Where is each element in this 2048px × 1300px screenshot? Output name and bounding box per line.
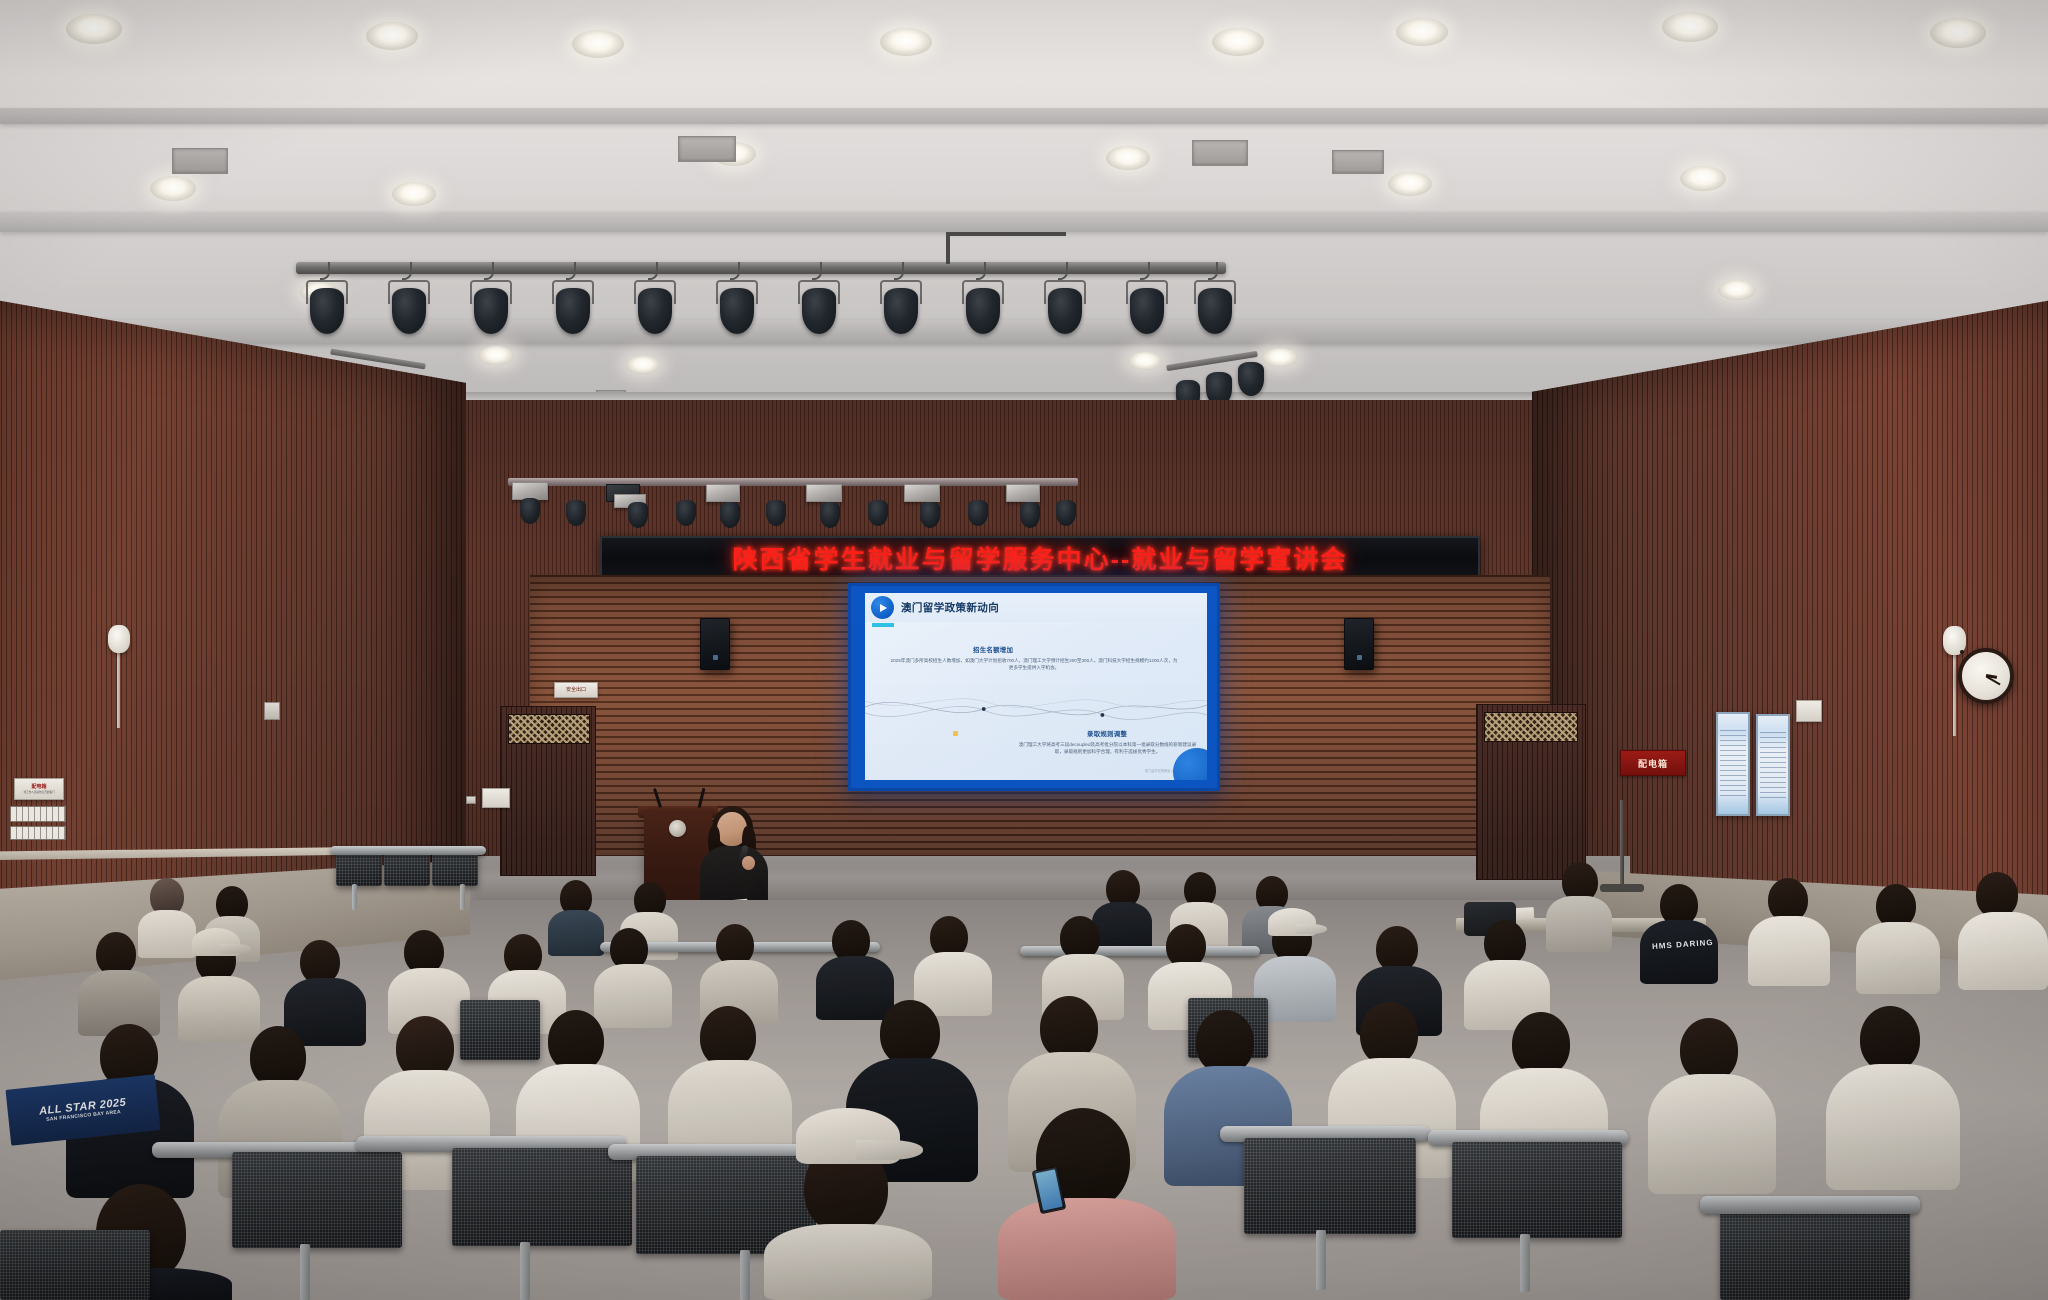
- par-can-light: [720, 502, 740, 528]
- chair[interactable]: [336, 852, 382, 886]
- wall-notice-left: [482, 788, 510, 808]
- ceiling-downlight: [572, 30, 624, 58]
- par-can-light: [1048, 288, 1082, 334]
- electrical-cabinet-sign: 配电箱: [1620, 750, 1686, 776]
- chair-leg: [460, 884, 465, 910]
- par-can-light: [1020, 502, 1040, 528]
- par-can-light: [628, 502, 648, 528]
- chair[interactable]: [1720, 1210, 1910, 1300]
- chair-leg: [1316, 1230, 1326, 1290]
- door-grille-right: [1484, 712, 1578, 742]
- audience-head: [880, 1000, 940, 1066]
- par-can-light: [556, 288, 590, 334]
- slide-section-2-body: 澳门理工大学将高考三段decoupled及高考批分院以本科第一批录取分数线的崭新…: [1015, 741, 1200, 755]
- chair-leg: [520, 1242, 530, 1300]
- audience-body: [816, 956, 894, 1020]
- wall-notice-right: [1796, 700, 1822, 722]
- ceiling-downlight: [1662, 12, 1718, 42]
- chair[interactable]: [432, 852, 478, 886]
- audience-head: [548, 1010, 604, 1072]
- projection-screen: 澳门留学政策新动向 招生名额增加 2025年澳门多所高校招生人数增加，如澳门大学…: [848, 583, 1220, 791]
- audience-cap: [796, 1108, 900, 1164]
- audience-body: [1648, 1074, 1776, 1194]
- pendant-rod-left: [117, 640, 120, 728]
- chair-rail: [1700, 1196, 1920, 1214]
- slide-wave-graphic: [865, 685, 1207, 731]
- audience-body: [1640, 920, 1718, 984]
- wall-clock: [1958, 648, 2014, 704]
- door-grille-left: [508, 714, 590, 744]
- fresnel-light: [1006, 484, 1040, 502]
- audience-body: [1546, 896, 1612, 952]
- electrical-cabinet-sign-text: 配电箱: [1638, 757, 1668, 770]
- ceiling-band: [0, 212, 2048, 232]
- par-can-light: [1130, 288, 1164, 334]
- wall-outlet[interactable]: [264, 702, 280, 720]
- chair[interactable]: [1244, 1138, 1416, 1234]
- ceiling-downlight: [880, 28, 932, 56]
- par-can-light: [1056, 500, 1076, 526]
- chair[interactable]: [1452, 1142, 1622, 1238]
- wall-pendant-left: [108, 625, 130, 653]
- ceiling-cable: [946, 236, 950, 264]
- audience-body: [1856, 922, 1940, 994]
- poster-board-left: [1716, 712, 1750, 816]
- truss-fixture-group-upper: [296, 258, 1234, 328]
- par-can-light: [676, 500, 696, 526]
- ceiling-band: [0, 108, 2048, 124]
- fresnel-light: [904, 484, 940, 502]
- breaker-row: [10, 806, 66, 822]
- ceiling-downlight: [1212, 28, 1264, 56]
- ceiling-downlight: [1680, 166, 1726, 191]
- exit-sign-text: 安全出口: [566, 687, 586, 694]
- electrical-panel-label: 配电箱 非工作人员请勿打开此箱门: [14, 778, 64, 800]
- audience-head: [1512, 1012, 1570, 1076]
- clock-center-pin: [1960, 650, 1964, 654]
- audience-body: [178, 976, 260, 1042]
- chair[interactable]: [452, 1148, 632, 1246]
- slide-accent-bar: [872, 623, 894, 627]
- exit-sign-left: 安全出口: [554, 682, 598, 698]
- ceiling-vent: [1192, 140, 1248, 166]
- ceiling-downlight: [1262, 348, 1298, 367]
- chair-leg: [1520, 1234, 1530, 1292]
- wall-speaker-right: [1344, 618, 1374, 670]
- ceiling-downlight: [1396, 18, 1448, 46]
- par-can-light: [720, 288, 754, 334]
- chair-leg: [352, 884, 357, 910]
- ceiling-downlight: [626, 356, 660, 374]
- slide-section-1-body: 2025年澳门多所高校招生人数增加，如澳门大学计划招收700人，澳门理工大学预计…: [889, 657, 1179, 671]
- audience-body: [764, 1224, 932, 1300]
- audience-head: [700, 1006, 756, 1068]
- par-can-light: [520, 498, 540, 524]
- ceiling-vent: [1332, 150, 1384, 174]
- ceiling-downlight: [1930, 18, 1986, 48]
- electrical-panel-sub: 非工作人员请勿打开此箱门: [23, 791, 54, 795]
- chair[interactable]: [460, 1000, 540, 1060]
- chair-rail: [330, 846, 486, 855]
- led-banner-text: 陕西省学生就业与留学服务中心--就业与留学宣讲会: [733, 540, 1348, 576]
- play-icon: [871, 596, 894, 619]
- par-can-light: [966, 288, 1000, 334]
- ceiling-cable: [946, 232, 1066, 236]
- audience-head: [1680, 1018, 1738, 1082]
- poster-board-right: [1756, 714, 1790, 816]
- ceiling-downlight: [392, 182, 436, 206]
- ceiling-vent: [678, 136, 736, 162]
- par-can-light: [638, 288, 672, 334]
- par-can-light: [1198, 288, 1232, 334]
- par-can-light: [474, 288, 508, 334]
- audience-body: [1748, 916, 1830, 986]
- audience-body: [998, 1198, 1176, 1300]
- audience-body: [594, 964, 672, 1028]
- ceiling-downlight: [1388, 172, 1432, 196]
- slide-section-1-heading: 招生名额增加: [973, 645, 1013, 654]
- par-can-light: [310, 288, 344, 334]
- ceiling-downlight: [478, 346, 514, 365]
- podium-emblem: [669, 820, 686, 837]
- truss-fixture-group-lower: [508, 470, 1080, 520]
- wall-switch[interactable]: [466, 796, 476, 804]
- par-can-light: [566, 500, 586, 526]
- ceiling-downlight: [66, 14, 122, 44]
- audience-body: [1092, 902, 1152, 952]
- slide-title: 澳门留学政策新动向: [901, 600, 999, 615]
- ceiling-downlight: [1106, 146, 1150, 170]
- chair[interactable]: [0, 1230, 150, 1300]
- ceiling-downlight: [150, 176, 196, 201]
- ceiling-downlight: [1128, 352, 1162, 370]
- breaker-row: [10, 826, 66, 840]
- audience-cap: [192, 928, 240, 956]
- fresnel-light: [706, 484, 740, 502]
- par-can-light: [766, 500, 786, 526]
- presenter-hand: [742, 856, 755, 870]
- chair[interactable]: [384, 852, 430, 886]
- audience-head: [1196, 1010, 1254, 1074]
- audience-body: [548, 910, 604, 956]
- par-can-light: [1238, 362, 1264, 396]
- par-can-light: [868, 500, 888, 526]
- audience-body: [1826, 1064, 1960, 1190]
- audience-body: [1958, 912, 2048, 990]
- stand-pole: [1620, 800, 1624, 890]
- fresnel-light: [806, 484, 842, 502]
- wall-speaker-left: [700, 618, 730, 670]
- par-can-light: [968, 500, 988, 526]
- chair-leg: [300, 1244, 310, 1300]
- audience-head: [1860, 1006, 1920, 1072]
- chair-leg: [740, 1250, 750, 1300]
- ceiling-downlight: [366, 22, 418, 50]
- slide-marker-dot: [953, 731, 958, 736]
- audience-cap: [1268, 908, 1316, 936]
- ceiling-downlight: [1718, 280, 1756, 300]
- par-can-light: [392, 288, 426, 334]
- slide-section-2-heading: 录取规则调整: [1087, 729, 1127, 738]
- audience-body: [138, 910, 196, 958]
- par-can-light: [820, 502, 840, 528]
- led-banner: 陕西省学生就业与留学服务中心--就业与留学宣讲会: [600, 536, 1480, 580]
- par-can-light: [802, 288, 836, 334]
- stand-base: [1600, 884, 1644, 892]
- par-can-light: [884, 288, 918, 334]
- presentation-slide: 澳门留学政策新动向 招生名额增加 2025年澳门多所高校招生人数增加，如澳门大学…: [865, 593, 1207, 780]
- par-can-light: [920, 502, 940, 528]
- auditorium-photo: 陕西省学生就业与留学服务中心--就业与留学宣讲会 澳门留学政策新动向 招生名额增…: [0, 0, 2048, 1300]
- ceiling-vent: [172, 148, 228, 174]
- audience-head: [1040, 996, 1098, 1060]
- audience-head: [1360, 1002, 1418, 1066]
- chair-rail: [1020, 946, 1260, 956]
- chair[interactable]: [232, 1152, 402, 1248]
- electrical-panel-title: 配电箱: [31, 784, 46, 791]
- audience-head: [250, 1026, 306, 1088]
